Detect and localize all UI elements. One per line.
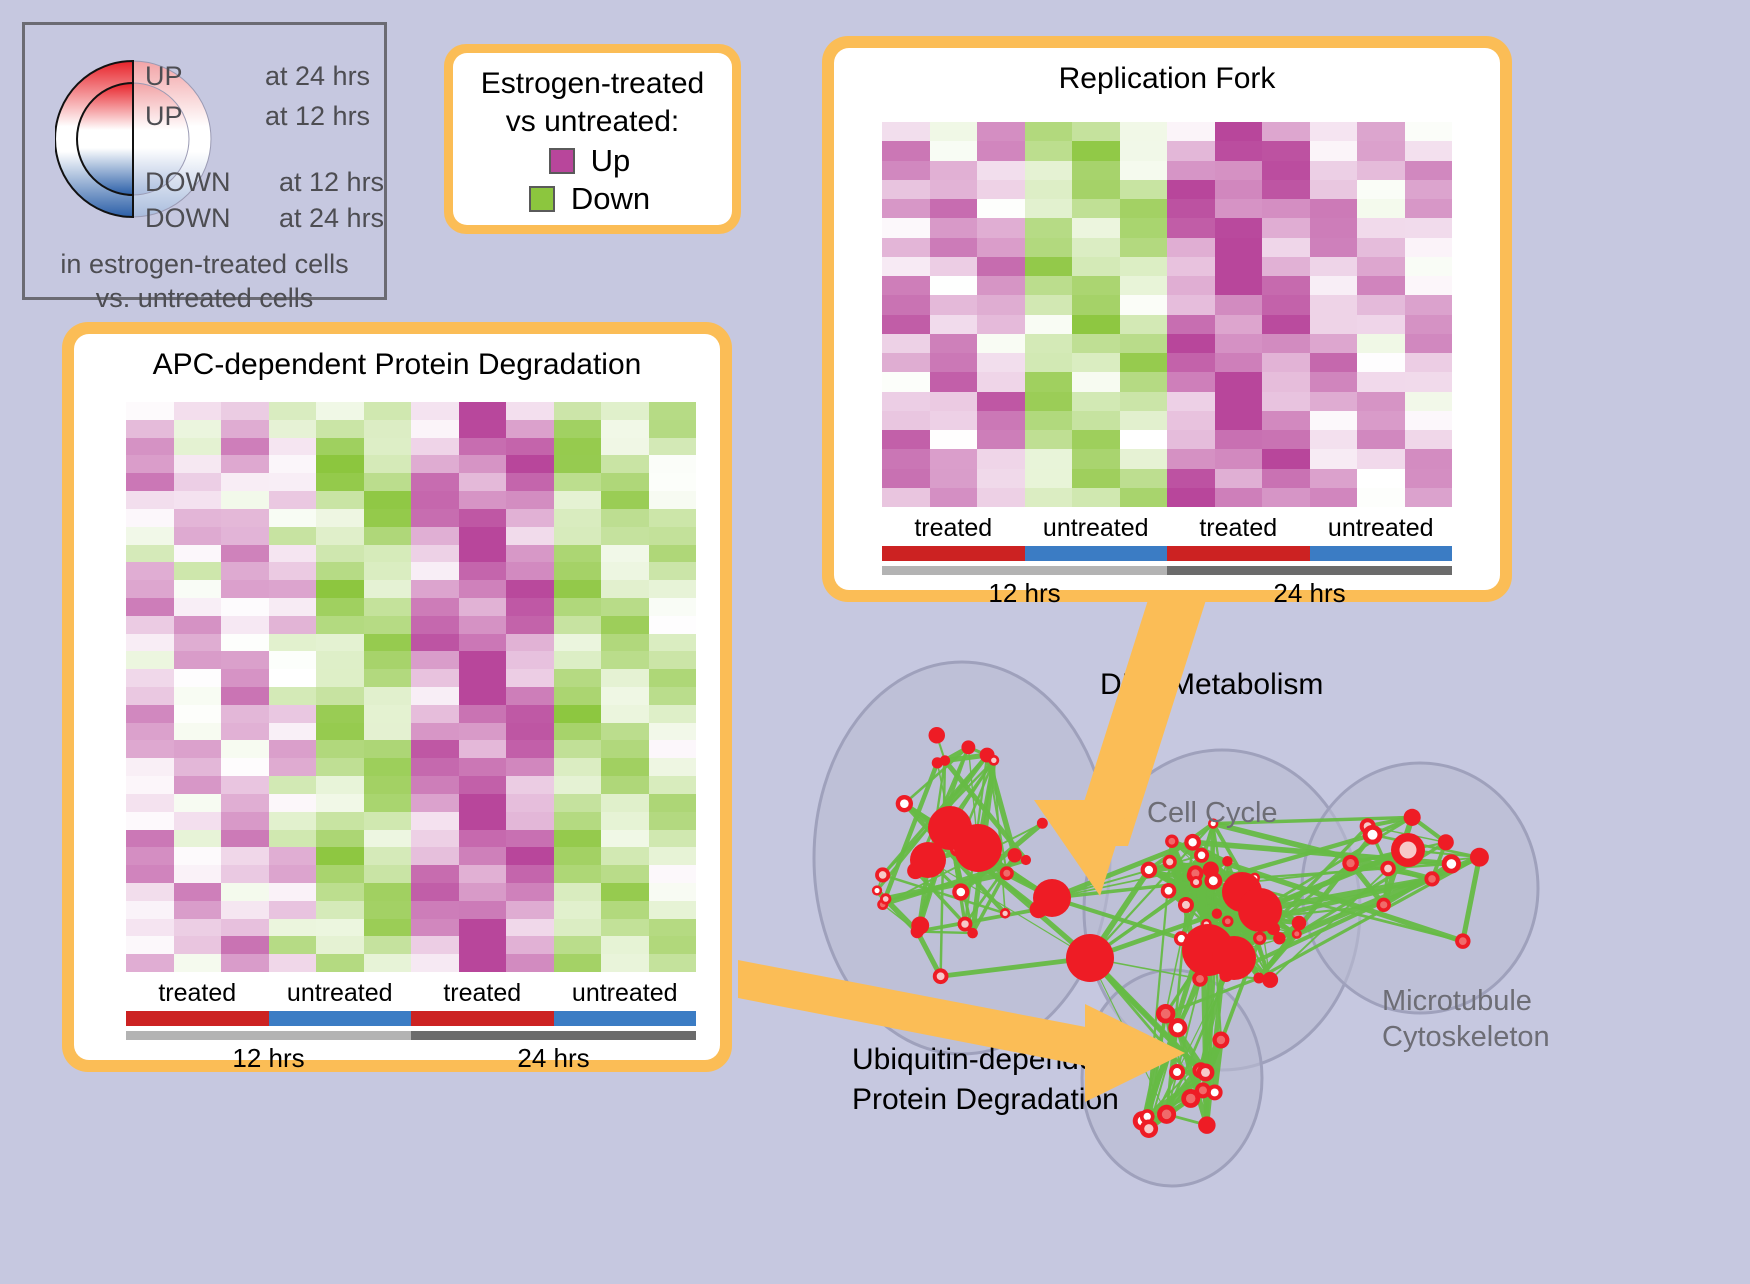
heatmap-cell [1072,218,1120,237]
heatmap-cell [649,634,697,652]
heatmap-cell [1310,218,1358,237]
heatmap-cell [364,616,412,634]
heatmap-cell [126,830,174,848]
network-node [910,842,946,878]
time-names-row: 12 hrs 24 hrs [126,1043,696,1074]
axis-apc-degradation: treated untreated treated untreated 12 h [126,979,696,1074]
heatmap-cell [649,901,697,919]
heatmap-cell [316,723,364,741]
heatmap-cell [601,420,649,438]
heatmap-cell [221,705,269,723]
heatmap-cell [1120,469,1168,488]
heatmap-cell [882,122,930,141]
heatmap-cell [554,598,602,616]
heatmap-cell [1120,430,1168,449]
heatmap-cell [1405,488,1453,507]
heatmap-cell [649,758,697,776]
heatmap-cell [1405,315,1453,334]
heatmap-cell [459,812,507,830]
heatmap-cell [459,491,507,509]
heatmap-cell [1025,488,1073,507]
heatmap-cell [459,687,507,705]
heatmap-cell [459,901,507,919]
heatmap-cell [601,598,649,616]
heatmap-cell [1262,218,1310,237]
heatmap-cell [1025,372,1073,391]
network-node-core [900,799,909,808]
heatmap-cell [601,954,649,972]
heatmap-cell [1025,199,1073,218]
network-node-core [1144,1113,1151,1120]
heatmap-cell [649,580,697,598]
heatmap-cell [316,776,364,794]
heatmap-cell [126,545,174,563]
heatmap-cell [459,438,507,456]
heatmap-cell [977,141,1025,160]
mt-line1: Microtubule [1382,983,1550,1019]
heatmap-cell [459,776,507,794]
network-node [1212,936,1256,980]
heatmap-cell [364,669,412,687]
heatmap-cell [1215,411,1263,430]
group-color-1 [269,1011,412,1026]
heatmap-cell [1405,430,1453,449]
heatmap-cell [1405,295,1453,314]
heatmap-cell [1215,372,1263,391]
heatmap-cell [930,449,978,468]
heatmap-cell [316,491,364,509]
heatmap-cell [601,847,649,865]
network-node [1470,848,1489,867]
heatmap-cell [1025,122,1073,141]
heatmap-cell [126,847,174,865]
heatmap-cell [649,491,697,509]
heatmap-cell [1357,257,1405,276]
heatmap-cell [882,238,930,257]
heatmap-cell [1310,257,1358,276]
heatmap-cell [554,830,602,848]
heatmap-cell [364,562,412,580]
group-name-2: treated [411,979,554,1008]
heatmap-cell [221,491,269,509]
time-name-1: 24 hrs [411,1043,696,1074]
updown-legend-inner: Estrogen-treated vs untreated: Up Down [453,53,732,225]
network-node-core [1447,859,1457,869]
heatmap-cell [506,616,554,634]
heatmap-cell [1405,257,1453,276]
heatmap-cell [977,218,1025,237]
heatmap-cell [1310,238,1358,257]
heatmap-cell [601,651,649,669]
heatmap-cell [1215,315,1263,334]
heatmap-cell [1262,295,1310,314]
network-node-core [1201,1068,1210,1077]
heatmap-cell [1072,122,1120,141]
heatmap-cell [1025,238,1073,257]
heatmap-cell [316,473,364,491]
heatmap-cell [506,919,554,937]
heatmap-cell [1120,238,1168,257]
heatmap-cell [1310,141,1358,160]
heatmap-cell [411,545,459,563]
heatmap-cell [221,509,269,527]
heatmap-cell [1167,372,1215,391]
heatmap-cell [601,669,649,687]
heatmap-cell [1357,488,1405,507]
heatmap-cell [1072,411,1120,430]
heatmap-cell [221,651,269,669]
heatmap-cell [221,954,269,972]
heatmap-cell [1025,469,1073,488]
heatmap-cell [601,473,649,491]
heatmap-cell [649,705,697,723]
heatmap-cell [1310,315,1358,334]
ub-line1: Ubiquitin-dependent [852,1040,1121,1080]
heatmap-cell [269,634,317,652]
heatmap-cell [601,616,649,634]
group-name-2: treated [1167,514,1310,543]
heatmap-cell [1310,488,1358,507]
heatmap-cell [1072,334,1120,353]
heatmap-cell [1120,257,1168,276]
heatmap-cell [506,705,554,723]
heatmap-cell [459,883,507,901]
heatmap-cell [882,372,930,391]
heatmap-cell [1025,334,1073,353]
heatmap-cell [1072,180,1120,199]
heatmap-cell [930,238,978,257]
heatmap-cell [411,455,459,473]
heatmap-cell [269,527,317,545]
heatmap-cell [506,580,554,598]
heatmap-cell [126,402,174,420]
heatmap-cell [221,527,269,545]
heatmap-cell [364,954,412,972]
updown-title-line2: vs untreated: [481,103,704,141]
time-color-1 [411,1031,696,1040]
heatmap-cell [601,705,649,723]
up-label: Up [591,143,631,179]
heatmap-cell [930,353,978,372]
heatmap-cell [1215,276,1263,295]
heatmap-cell [174,687,222,705]
heatmap-cell [1310,276,1358,295]
heatmap-cell [1405,392,1453,411]
heatmap-cell [459,473,507,491]
time-name-0: 12 hrs [882,578,1167,609]
heatmap-cell [554,740,602,758]
heatmap-cell [174,420,222,438]
heatmap-cell [649,509,697,527]
heatmap-cell [1357,238,1405,257]
ub-line2: Protein Degradation [852,1080,1121,1120]
heatmap-cell [221,687,269,705]
heatmap-cell [126,936,174,954]
heatmap-cell [1215,141,1263,160]
network-node-core [1380,901,1387,908]
heatmap-cell [269,830,317,848]
heatmap-cell [649,740,697,758]
heatmap-cell [411,812,459,830]
heatmap-cell [649,812,697,830]
heatmap-cell [649,723,697,741]
heatmap-cell [1025,411,1073,430]
heatmap-cell [269,420,317,438]
heatmap-cell [316,705,364,723]
heatmap-cell [269,847,317,865]
heatmap-cell [459,420,507,438]
heatmap-cell [1215,469,1263,488]
heatmap-cell [882,449,930,468]
network-node-core [1166,858,1173,865]
heatmap-cell [269,509,317,527]
heatmap-cell [554,919,602,937]
heatmap-cell [174,527,222,545]
heatmap-cell [126,758,174,776]
heatmap-cell [1120,315,1168,334]
group-name-0: treated [126,979,269,1008]
heatmap-cell [174,562,222,580]
heatmap-cell [1262,372,1310,391]
heatmap-cell [364,545,412,563]
heatmap-cell [411,883,459,901]
network-node-core [874,888,879,893]
heatmap-cell [601,580,649,598]
heatmap-cell [601,509,649,527]
heatmap-cell [601,865,649,883]
heatmap-cell [459,402,507,420]
heatmap-cell [882,411,930,430]
heatmap-cell [269,901,317,919]
heatmap-cell [1167,180,1215,199]
heatmap-cell [1310,392,1358,411]
heatmap-cell [1310,372,1358,391]
heatmap-cell [554,723,602,741]
group-color-2 [1167,546,1310,561]
heatmap-cell [221,420,269,438]
network-node-core [1168,838,1175,845]
time-color-bar [882,566,1452,575]
heatmap-cell [1357,469,1405,488]
heatmap-cell [1072,141,1120,160]
down-swatch-icon [529,186,555,212]
network-node [967,928,978,939]
heatmap-cell [601,901,649,919]
heatmap-cell [126,455,174,473]
updown-title-line1: Estrogen-treated [481,65,704,103]
heatmap-cell [269,491,317,509]
heatmap-cell [1310,180,1358,199]
heatmap-cell [1167,141,1215,160]
heatmap-cell [316,954,364,972]
network-node [1033,879,1071,917]
heatmap-cell [221,936,269,954]
network-node [1438,834,1454,850]
heatmap-cell [601,740,649,758]
axis-replication-fork: treated untreated treated untreated 12 h [882,514,1452,609]
network-node [961,740,975,754]
heatmap-cell [174,402,222,420]
heatmap-cell [649,562,697,580]
time-color-0 [882,566,1167,575]
heatmap-cell [554,491,602,509]
heatmap-cell [316,545,364,563]
heatmap-cell [316,402,364,420]
heatmap-cell [126,598,174,616]
heatmap-cell [221,830,269,848]
cluster-label-ubiquitin-degradation: Ubiquitin-dependent Protein Degradation [852,1040,1121,1120]
heatmap-cell [930,199,978,218]
heatmap-cell [1072,372,1120,391]
heatmap-cell [977,122,1025,141]
heatmap-cell [1357,430,1405,449]
heatmap-cell [1215,353,1263,372]
heatmap-cell [930,276,978,295]
heatmap-cell [977,334,1025,353]
heatmap-cell [269,865,317,883]
heatmap-cell [1072,469,1120,488]
heatmap-cell [977,199,1025,218]
heatmap-cell [1025,141,1073,160]
legend-item-down: Down [529,181,650,217]
heatmap-cell [1215,161,1263,180]
heatmap-cell [221,901,269,919]
heatmap-cell [316,883,364,901]
heatmap-cell [506,634,554,652]
cluster-label-dna-metabolism: DNA Metabolism [1100,668,1323,702]
heatmap-cell [459,794,507,812]
heatmap-cell [1215,218,1263,237]
up-down-ring-diagram [55,43,215,273]
heatmap-cell [977,180,1025,199]
heatmap-cell [601,527,649,545]
heatmap-cell [977,257,1025,276]
heatmap-cell [882,315,930,334]
heatmap-cell [269,794,317,812]
heatmap-cell [554,634,602,652]
heatmap-cell [269,669,317,687]
heatmap-cell [459,545,507,563]
heatmap-cell [506,687,554,705]
heatmap-cell [1120,295,1168,314]
heatmap-cell [126,776,174,794]
cluster-label-microtubule-cytoskeleton: Microtubule Cytoskeleton [1382,983,1550,1055]
legend-direction-3: DOWN [145,203,230,234]
heatmap-cell [411,616,459,634]
heatmap-cell [506,865,554,883]
heatmap-cell [174,616,222,634]
heatmap-cell [269,723,317,741]
heatmap-cell [554,580,602,598]
heatmap-cell [269,402,317,420]
heatmap-cell [977,449,1025,468]
heatmap-cell [364,491,412,509]
heatmap-cell [364,723,412,741]
heatmap-cell [1072,488,1120,507]
network-node [1212,908,1222,918]
heatmap-cell [316,936,364,954]
group-name-0: treated [882,514,1025,543]
heatmap-cell [459,954,507,972]
heatmap-cell [411,794,459,812]
heatmap-cell [506,758,554,776]
heatmap-cell [126,723,174,741]
heatmap-cell [411,901,459,919]
heatmap-cell [316,794,364,812]
heatmap-cell [1357,392,1405,411]
heatmap-cell [930,257,978,276]
heatmap-cell [174,901,222,919]
heatmap-cell [459,527,507,545]
heatmap-cell [1215,257,1263,276]
network-node [1404,809,1421,826]
heatmap-cell [411,954,459,972]
heatmap-cell [1262,199,1310,218]
heatmap-cell [1405,449,1453,468]
heatmap-cell [364,847,412,865]
heatmap-cell [269,758,317,776]
heatmap-cell [554,812,602,830]
heatmap-cell [459,616,507,634]
heatmap-cell [459,723,507,741]
heatmap-cell [1072,161,1120,180]
heatmap-cell [126,919,174,937]
heatmap-cell [1310,334,1358,353]
heatmap-cell [174,883,222,901]
heatmap-cell [364,936,412,954]
heatmap-cell [459,865,507,883]
heatmap-cell [411,402,459,420]
heatmap-cell [649,687,697,705]
heatmap-cell [269,545,317,563]
heatmap-cell [977,411,1025,430]
heatmap-cell [1405,411,1453,430]
heatmap-cell [554,562,602,580]
heatmap-cell [411,562,459,580]
heatmap-cell [1310,295,1358,314]
network-node-core [1161,1009,1171,1019]
heatmap-cell [1072,392,1120,411]
heatmap-cell [1405,218,1453,237]
group-name-1: untreated [269,979,412,1008]
network-node-core [1217,1036,1225,1044]
heatmap-cell [316,438,364,456]
heatmap-cell [1262,469,1310,488]
heatmap-cell [882,141,930,160]
heatmap-cell [1215,238,1263,257]
heatmap-cell [1262,449,1310,468]
heatmap-cell [649,438,697,456]
heatmap-cell [411,776,459,794]
heatmap-cell [316,687,364,705]
heatmap-cell [1405,469,1453,488]
heatmap-cell [1025,353,1073,372]
heatmap-cell [649,936,697,954]
heatmap-cell [1262,276,1310,295]
heatmap-cell [126,669,174,687]
heatmap-cell [269,651,317,669]
heatmap-cell [174,634,222,652]
network-node-core [1145,866,1153,874]
heatmap-cell [174,936,222,954]
heatmap-cell [1405,161,1453,180]
heatmap-cell [1167,334,1215,353]
heatmap-cell [1025,276,1073,295]
heatmap-cell [1262,257,1310,276]
heatmap-cell [221,580,269,598]
heatmap-cell [1357,353,1405,372]
heatmap-cell [601,758,649,776]
